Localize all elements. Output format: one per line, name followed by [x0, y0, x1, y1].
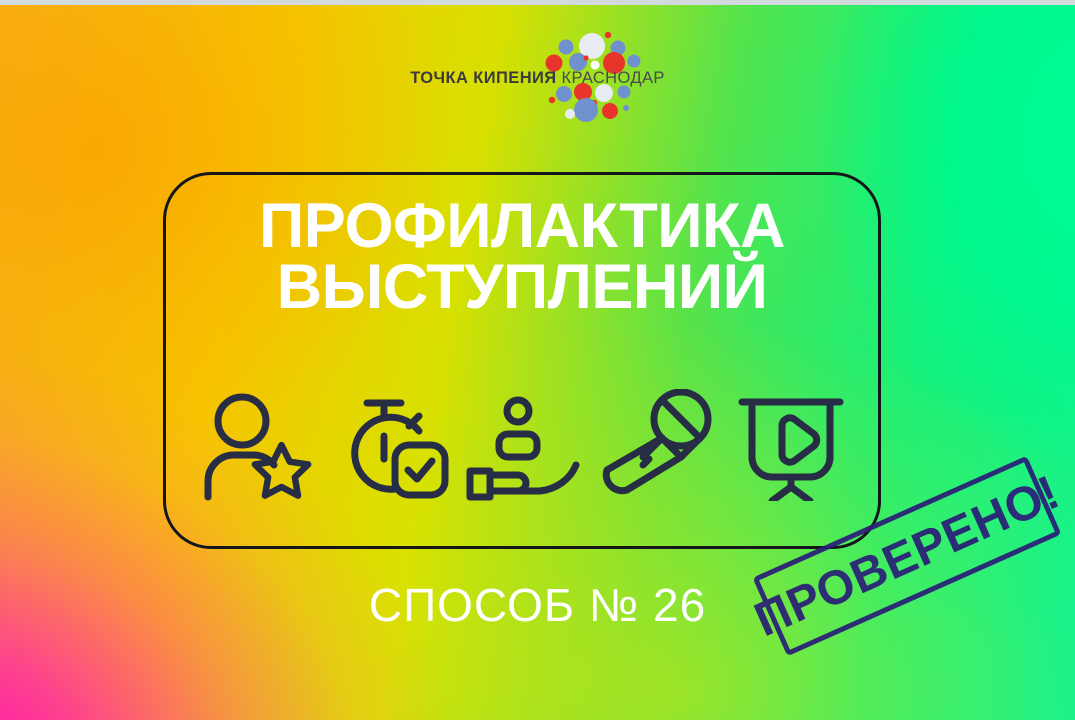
- top-edge-strip: [0, 0, 1075, 5]
- brand-logo: ТОЧКА КИПЕНИЯ КРАСНОДАР: [0, 30, 1075, 138]
- person-star-icon: [200, 389, 318, 501]
- presentation-play-icon: [732, 389, 850, 501]
- headline-line-1: ПРОФИЛАКТИКА: [259, 191, 785, 261]
- poster-canvas: ТОЧКА КИПЕНИЯ КРАСНОДАР ПРОФИЛАКТИКА ВЫС…: [0, 0, 1075, 720]
- logo-secondary-text: КРАСНОДАР: [562, 69, 665, 87]
- page-title: ПРОФИЛАКТИКА ВЫСТУПЛЕНИЙ: [163, 196, 881, 318]
- icon-row: [200, 382, 850, 507]
- logo-primary-text: ТОЧКА КИПЕНИЯ: [410, 69, 556, 87]
- headline-line-2: ВЫСТУПЛЕНИЙ: [163, 257, 881, 318]
- hand-person-icon: [466, 389, 584, 501]
- stopwatch-check-icon: [333, 389, 451, 501]
- microphone-icon: [599, 389, 717, 501]
